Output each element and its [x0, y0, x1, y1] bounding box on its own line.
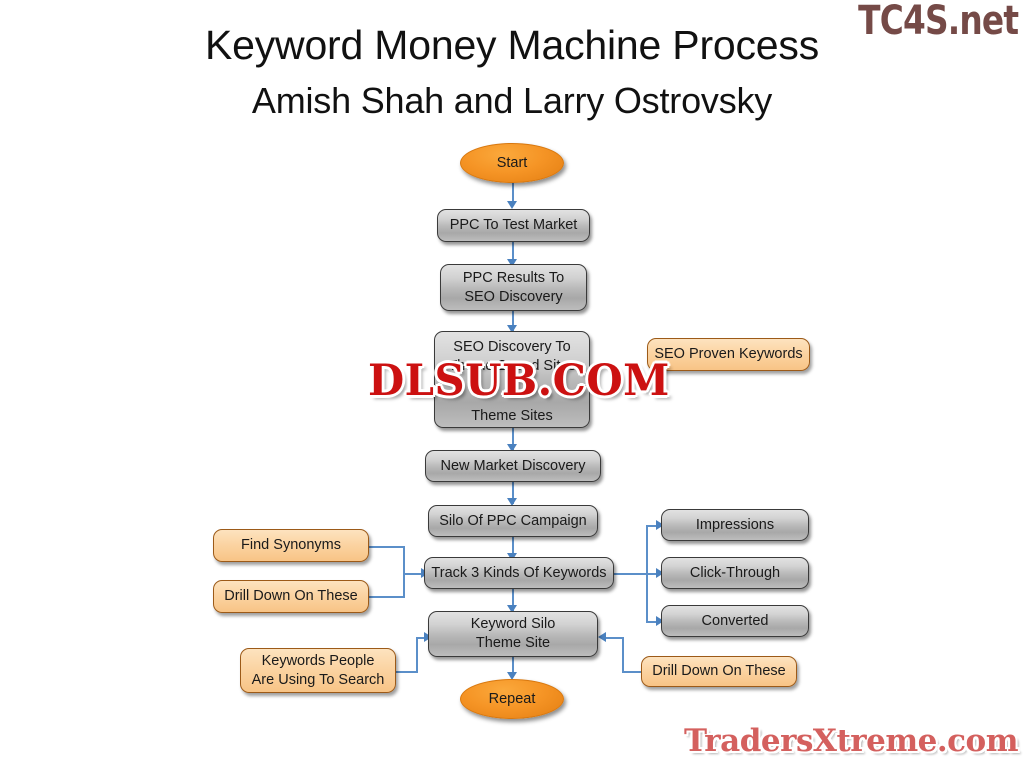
node-seo-discovery-line4: Theme Sites: [471, 407, 552, 426]
node-silo-of-ppc-campaign[interactable]: Silo Of PPC Campaign: [428, 505, 598, 537]
node-start-label: Start: [497, 154, 528, 173]
connector-keywords-people-riser: [416, 637, 418, 673]
node-seo-proven-keywords-label: SEO Proven Keywords: [654, 345, 802, 364]
node-start[interactable]: Start: [460, 143, 564, 183]
node-repeat[interactable]: Repeat: [460, 679, 564, 719]
node-converted[interactable]: Converted: [661, 605, 809, 637]
node-track-3-kinds-of-keywords[interactable]: Track 3 Kinds Of Keywords: [424, 557, 614, 589]
node-keyword-silo-line2: Theme Site: [476, 634, 550, 653]
node-impressions[interactable]: Impressions: [661, 509, 809, 541]
connector-keywords-people-out: [396, 671, 418, 673]
node-find-synonyms-label: Find Synonyms: [241, 536, 341, 555]
connector-left-merge-trunk: [403, 546, 405, 598]
node-keyword-silo-theme-site[interactable]: Keyword Silo Theme Site: [428, 611, 598, 657]
node-ppc-to-test-market[interactable]: PPC To Test Market: [437, 209, 590, 242]
watermark-tc4s: TC4S.net: [858, 0, 1018, 44]
node-ppc-results-to-seo-discovery[interactable]: PPC Results To SEO Discovery: [440, 264, 587, 311]
node-ppc-to-test-market-label: PPC To Test Market: [450, 216, 578, 235]
node-drill-down-on-these-left[interactable]: Drill Down On These: [213, 580, 369, 613]
watermark-tradersxtreme: TradersXtreme.com: [684, 722, 1018, 760]
node-find-synonyms[interactable]: Find Synonyms: [213, 529, 369, 562]
node-keywords-people-are-using-to-search[interactable]: Keywords People Are Using To Search: [240, 648, 396, 693]
connector-find-synonyms-out: [369, 546, 405, 548]
node-impressions-label: Impressions: [696, 516, 774, 535]
node-ppc-results-line2: SEO Discovery: [464, 288, 562, 307]
node-drill-down-left-label: Drill Down On These: [224, 587, 358, 606]
node-click-through-label: Click-Through: [690, 564, 780, 583]
node-drill-down-right-label: Drill Down On These: [652, 662, 786, 681]
node-click-through[interactable]: Click-Through: [661, 557, 809, 589]
node-seo-proven-keywords[interactable]: SEO Proven Keywords: [647, 338, 810, 371]
node-keywords-people-line2: Are Using To Search: [252, 671, 385, 690]
arrowhead-keyword-silo-right-input: [598, 632, 606, 642]
node-silo-of-ppc-campaign-label: Silo Of PPC Campaign: [439, 512, 586, 531]
node-repeat-label: Repeat: [489, 690, 536, 709]
node-converted-label: Converted: [702, 612, 769, 631]
node-drill-down-on-these-right[interactable]: Drill Down On These: [641, 656, 797, 687]
arrowhead-ppc-test: [507, 201, 517, 209]
node-ppc-results-line1: PPC Results To: [463, 269, 564, 288]
node-keyword-silo-line1: Keyword Silo: [471, 615, 556, 634]
page-subtitle: Amish Shah and Larry Ostrovsky: [0, 78, 1024, 124]
node-track-3-kinds-label: Track 3 Kinds Of Keywords: [431, 564, 606, 583]
node-seo-discovery-line1: SEO Discovery To: [453, 338, 570, 357]
node-new-market-discovery-label: New Market Discovery: [440, 457, 585, 476]
watermark-dlsub: DLSUB.COM: [368, 359, 670, 403]
slide-canvas: Keyword Money Machine Process Amish Shah…: [0, 0, 1024, 768]
connector-drill-right-riser: [622, 637, 624, 673]
node-new-market-discovery[interactable]: New Market Discovery: [425, 450, 601, 482]
connector-drill-left-out: [369, 596, 405, 598]
node-keywords-people-line1: Keywords People: [262, 652, 375, 671]
connector-drill-right-into-silo: [606, 637, 624, 639]
connector-track-out-right: [614, 573, 648, 575]
